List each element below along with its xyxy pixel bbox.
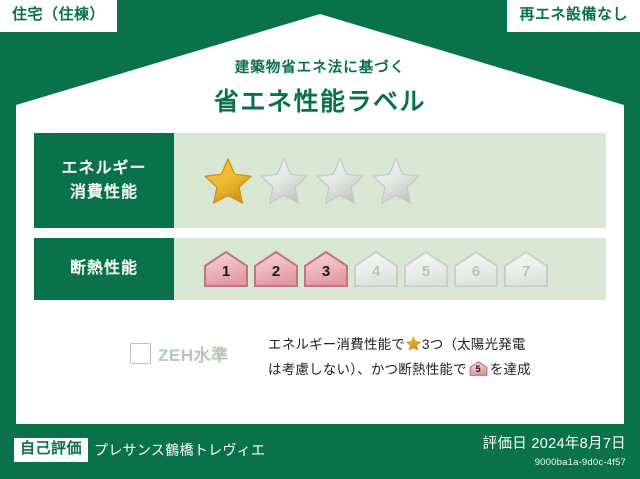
house-grade-icon-value: 5 [469, 365, 488, 374]
zeh-desc-part2: は考慮しない）、かつ断熱性能で [268, 362, 467, 377]
insulation-grade-filled: 2 [252, 249, 300, 289]
star-icon [406, 336, 421, 351]
row-energy-label: エネルギー 消費性能 [34, 133, 174, 228]
zeh-checkbox-icon [130, 343, 151, 364]
insulation-grade-empty: 7 [502, 249, 550, 289]
evaluation-date: 評価日 2024年8月7日 [483, 432, 626, 453]
zeh-description: エネルギー消費性能で3つ（太陽光発電は考慮しない）、かつ断熱性能で5を達成 [250, 333, 606, 383]
row-energy-label-line1: エネルギー [61, 157, 146, 180]
evaluation-id: 9000ba1a-9d0c-4f57 [483, 457, 626, 468]
insulation-grade-empty: 4 [352, 249, 400, 289]
row-insulation-label: 断熱性能 [34, 238, 174, 300]
badge-renewable-energy: 再エネ設備なし [507, 0, 640, 32]
row-energy-value [174, 133, 606, 228]
row-insulation-performance: 断熱性能 1234567 [34, 238, 606, 300]
title-main: 省エネ性能ラベル [0, 82, 640, 118]
insulation-grade-number: 3 [302, 264, 350, 279]
row-insulation-value: 1234567 [174, 238, 606, 300]
zeh-section: ZEH水準 エネルギー消費性能で3つ（太陽光発電は考慮しない）、かつ断熱性能で5… [34, 333, 606, 383]
badge-building-type: 住宅（住棟） [0, 0, 117, 32]
insulation-grade-empty: 5 [402, 249, 450, 289]
building-name: プレサンス鶴橋トレヴィエ [94, 440, 265, 460]
title-subtitle: 建築物省エネ法に基づく [0, 56, 640, 77]
footer: 自己評価 プレサンス鶴橋トレヴィエ 評価日 2024年8月7日 9000ba1a… [0, 424, 640, 479]
star-empty-icon [370, 156, 422, 206]
energy-performance-label: 住宅（住棟） 再エネ設備なし 建築物省エネ法に基づく 省エネ性能ラベル エネルギ… [0, 0, 640, 479]
zeh-desc-star-count: 3つ（太陽光発電 [422, 337, 526, 352]
zeh-mark: ZEH水準 [34, 333, 250, 366]
performance-rows: エネルギー 消費性能 断熱性能 1234567 [34, 133, 606, 310]
insulation-grade-number: 4 [352, 264, 400, 279]
star-filled-icon [202, 156, 254, 206]
page-title: 建築物省エネ法に基づく 省エネ性能ラベル [0, 56, 640, 118]
house-grade-icon: 5 [469, 360, 488, 377]
footer-right: 評価日 2024年8月7日 9000ba1a-9d0c-4f57 [483, 432, 626, 468]
insulation-grade-empty: 6 [452, 249, 500, 289]
row-insulation-label-line1: 断熱性能 [70, 257, 138, 280]
badge-self-evaluation: 自己評価 [14, 438, 88, 462]
insulation-grade-scale: 1234567 [202, 249, 550, 289]
zeh-label: ZEH水準 [158, 341, 229, 366]
star-empty-icon [314, 156, 366, 206]
star-rating [202, 156, 422, 206]
zeh-desc-part3: を達成 [490, 362, 531, 377]
row-energy-label-line2: 消費性能 [70, 181, 138, 204]
row-energy-performance: エネルギー 消費性能 [34, 133, 606, 228]
insulation-grade-number: 6 [452, 264, 500, 279]
insulation-grade-number: 2 [252, 264, 300, 279]
insulation-grade-filled: 3 [302, 249, 350, 289]
insulation-grade-filled: 1 [202, 249, 250, 289]
insulation-grade-number: 1 [202, 264, 250, 279]
insulation-grade-number: 7 [502, 264, 550, 279]
footer-left: 自己評価 プレサンス鶴橋トレヴィエ [14, 438, 265, 462]
zeh-desc-part1: エネルギー消費性能で [268, 337, 405, 352]
star-empty-icon [258, 156, 310, 206]
insulation-grade-number: 5 [402, 264, 450, 279]
